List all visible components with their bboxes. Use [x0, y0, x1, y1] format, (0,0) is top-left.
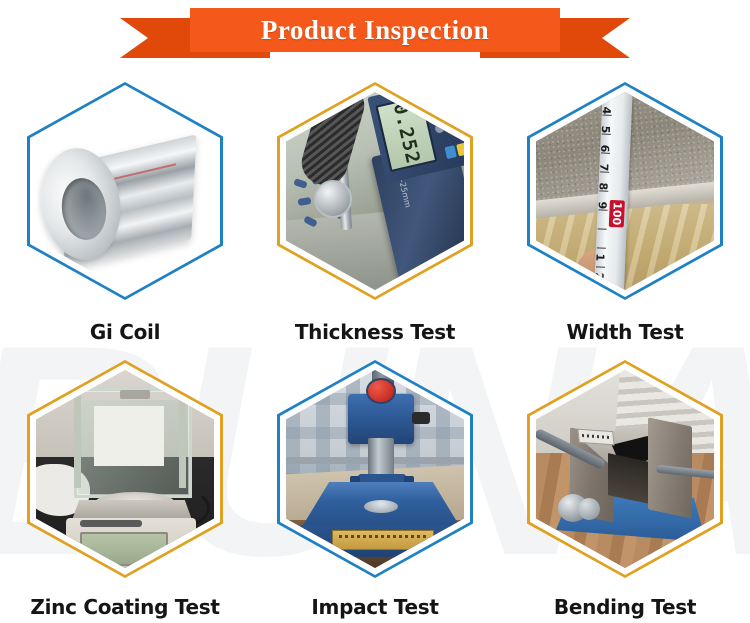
hexagon-frame: 3 4 5 6 7 8 9 1 2 3 100	[527, 82, 723, 300]
tape-tick-label: 7	[597, 163, 610, 171]
keypad-dot-icon	[446, 104, 457, 115]
inspection-card-gi-coil[interactable]: Gi Coil	[0, 76, 250, 354]
hexagon-frame	[27, 82, 223, 300]
release-knob-icon	[366, 378, 396, 404]
tape-tick-label: 8	[596, 182, 609, 190]
power-button-icon	[440, 92, 455, 98]
keypad-yellow-button-icon	[456, 142, 464, 156]
tape-tick-label: 6	[598, 144, 611, 152]
inspection-card-zinc-coating-test[interactable]: Zinc Coating Test	[0, 354, 250, 623]
card-label: Impact Test	[250, 595, 500, 619]
card-label: Bending Test	[500, 595, 750, 619]
inspection-card-impact-test[interactable]: Impact Test	[250, 354, 500, 623]
hexagon-frame	[527, 360, 723, 578]
inspection-grid: Gi Coil	[0, 76, 750, 623]
fixture-label-plate	[577, 429, 614, 446]
page-title: Product Inspection	[190, 8, 560, 52]
card-label: Thickness Test	[250, 320, 500, 344]
grid-row-bottom: Zinc Coating Test	[0, 354, 750, 623]
banner: Product Inspection	[0, 0, 750, 72]
inspection-card-width-test[interactable]: 3 4 5 6 7 8 9 1 2 3 100	[500, 76, 750, 354]
tape-tick-label: 4	[600, 106, 613, 114]
tape-tick-label: 5	[599, 125, 612, 133]
card-label: Gi Coil	[0, 320, 250, 344]
keypad-blue-button-icon	[444, 145, 456, 159]
inspection-card-bending-test[interactable]: Bending Test	[500, 354, 750, 623]
balance-display	[80, 532, 168, 566]
inspection-card-thickness-test[interactable]: 0-25mm 0.252	[250, 76, 500, 354]
tape-tick-label: 9	[596, 201, 609, 209]
product-inspection-page: BUNA Product Inspection	[0, 0, 750, 623]
tape-tick-label: 3	[592, 289, 605, 290]
hexagon-frame	[27, 360, 223, 578]
keypad-dot-icon	[431, 108, 442, 119]
tape-tick-label: 1	[593, 253, 606, 261]
micrometer-thimble	[314, 180, 352, 218]
hexagon-frame	[277, 360, 473, 578]
card-label: Width Test	[500, 320, 750, 344]
tape-highlight-label: 100	[609, 200, 625, 228]
hexagon-frame: 0-25mm 0.252	[277, 82, 473, 300]
grid-row-top: Gi Coil	[0, 76, 750, 354]
card-label: Zinc Coating Test	[0, 595, 250, 619]
